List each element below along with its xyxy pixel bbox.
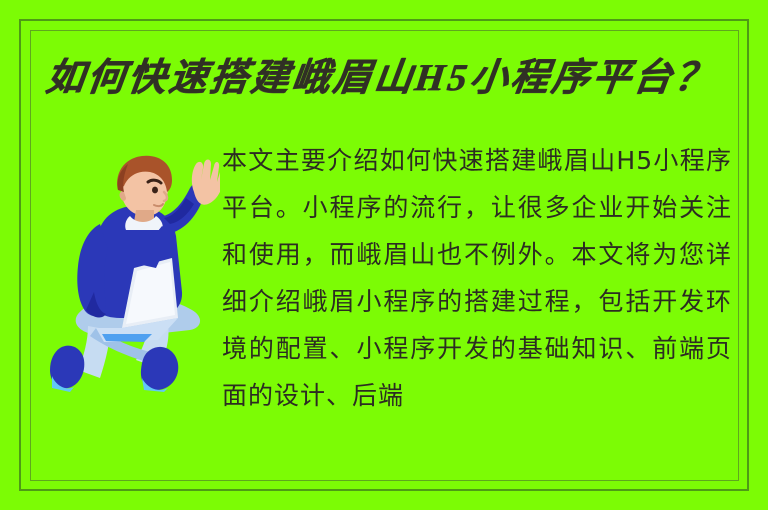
shoes-group — [50, 346, 178, 392]
body-paragraph: 本文主要介绍如何快速搭建峨眉山H5小程序平台。小程序的流行，让很多企业开始关注和… — [222, 137, 732, 419]
waving-arm-group — [164, 160, 220, 235]
illustration-man-with-laptop — [44, 142, 220, 392]
poster-canvas: 如何快速搭建峨眉山H5小程序平台？ — [0, 0, 768, 510]
page-title: 如何快速搭建峨眉山H5小程序平台？ — [43, 57, 728, 101]
